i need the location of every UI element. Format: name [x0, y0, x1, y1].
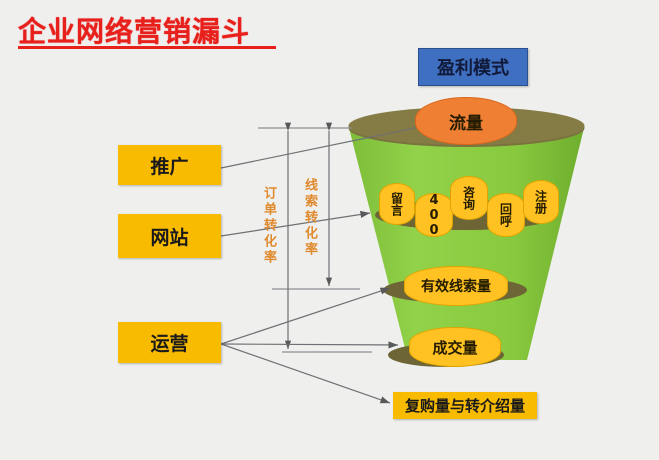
- stage-label: 有效线索量: [404, 266, 508, 306]
- funnel-stage-deals[interactable]: 成交量: [409, 327, 501, 365]
- channel-label: 回呼: [487, 193, 525, 237]
- channel-label: 留言: [379, 183, 415, 225]
- channel-label: 400: [415, 193, 453, 237]
- channel-hotline[interactable]: 400: [415, 193, 453, 235]
- source-box-website[interactable]: 网站: [118, 214, 221, 258]
- channel-label: 咨询: [450, 176, 488, 220]
- profit-model-box[interactable]: 盈利模式: [418, 48, 528, 86]
- channel-message[interactable]: 留言: [379, 183, 415, 223]
- rate-label-lead: 线索转化率: [303, 178, 316, 258]
- funnel-stage-leads[interactable]: 有效线索量: [404, 266, 508, 304]
- rate-label-order: 订单转化率: [262, 186, 275, 266]
- stage-label: 流量: [415, 97, 517, 145]
- outcome-box[interactable]: 复购量与转介绍量: [393, 392, 537, 419]
- funnel-stage-traffic[interactable]: 流量: [415, 97, 517, 143]
- profit-model-label: 盈利模式: [437, 54, 509, 80]
- source-label: 推广: [150, 152, 188, 179]
- channel-label: 注册: [523, 180, 559, 224]
- outcome-label: 复购量与转介绍量: [405, 395, 525, 416]
- stage-label: 成交量: [409, 327, 501, 367]
- channel-callback[interactable]: 回呼: [487, 193, 525, 235]
- source-box-operation[interactable]: 运营: [118, 322, 221, 363]
- channel-consult[interactable]: 咨询: [450, 176, 488, 218]
- source-label: 运营: [150, 329, 188, 356]
- source-label: 网站: [150, 223, 188, 250]
- diagram-canvas: 企业网络营销漏斗: [0, 0, 659, 460]
- source-box-promotion[interactable]: 推广: [118, 145, 221, 185]
- channel-register[interactable]: 注册: [523, 180, 559, 222]
- funnel-graphics: [0, 0, 659, 460]
